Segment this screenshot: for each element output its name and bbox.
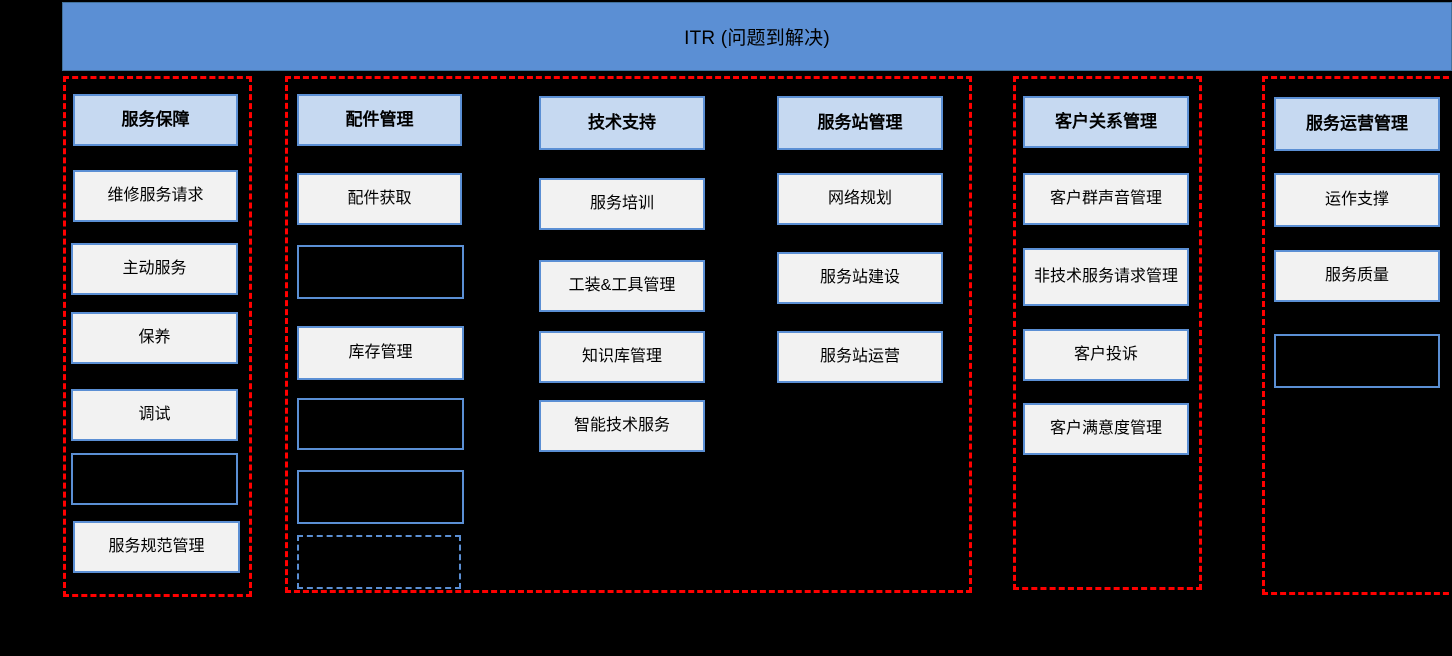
item-box-2-1[interactable]: 工装&工具管理 [539, 260, 705, 312]
column-header-label-5: 服务运营管理 [1306, 114, 1408, 134]
item-label-4-1: 非技术服务请求管理 [1034, 267, 1178, 286]
item-label-4-3: 客户满意度管理 [1050, 419, 1162, 438]
item-box-2-3[interactable]: 智能技术服务 [539, 400, 705, 452]
item-box-0-4[interactable] [71, 453, 238, 505]
item-label-0-2: 保养 [138, 328, 170, 347]
column-header-3[interactable]: 服务站管理 [777, 96, 943, 150]
item-box-1-3[interactable] [297, 398, 464, 450]
item-box-4-0[interactable]: 客户群声音管理 [1023, 173, 1189, 225]
item-label-5-1: 服务质量 [1325, 266, 1389, 285]
item-box-4-2[interactable]: 客户投诉 [1023, 329, 1189, 381]
item-label-1-0: 配件获取 [347, 189, 411, 208]
itr-banner: ITR (问题到解决) [62, 2, 1452, 71]
item-label-0-5: 服务规范管理 [108, 537, 204, 556]
column-header-0[interactable]: 服务保障 [73, 94, 238, 146]
item-box-4-3[interactable]: 客户满意度管理 [1023, 403, 1189, 455]
item-box-1-2[interactable]: 库存管理 [297, 326, 464, 380]
item-box-0-5[interactable]: 服务规范管理 [73, 521, 240, 573]
item-label-2-3: 智能技术服务 [574, 416, 670, 435]
item-box-5-0[interactable]: 运作支撑 [1274, 173, 1440, 227]
column-header-label-2: 技术支持 [588, 113, 656, 133]
item-box-2-0[interactable]: 服务培训 [539, 178, 705, 230]
item-box-3-0[interactable]: 网络规划 [777, 173, 943, 225]
item-box-3-1[interactable]: 服务站建设 [777, 252, 943, 304]
item-label-4-0: 客户群声音管理 [1050, 189, 1162, 208]
item-label-4-2: 客户投诉 [1074, 345, 1138, 364]
item-label-3-2: 服务站运营 [820, 347, 900, 366]
banner-title: ITR (问题到解决) [684, 23, 830, 50]
item-label-5-0: 运作支撑 [1325, 190, 1389, 209]
item-box-1-4[interactable] [297, 470, 464, 524]
column-header-label-1: 配件管理 [346, 110, 414, 130]
item-box-2-2[interactable]: 知识库管理 [539, 331, 705, 383]
item-box-1-0[interactable]: 配件获取 [297, 173, 462, 225]
item-label-0-0: 维修服务请求 [107, 186, 203, 205]
item-label-1-2: 库存管理 [348, 343, 412, 362]
column-header-label-0: 服务保障 [122, 110, 190, 130]
item-box-5-1[interactable]: 服务质量 [1274, 250, 1440, 302]
item-label-2-2: 知识库管理 [582, 347, 662, 366]
column-header-5[interactable]: 服务运营管理 [1274, 97, 1440, 151]
item-label-3-0: 网络规划 [828, 189, 892, 208]
item-label-0-3: 调试 [138, 405, 170, 424]
column-header-1[interactable]: 配件管理 [297, 94, 462, 146]
item-box-1-5[interactable] [297, 535, 461, 589]
diagram-canvas: ITR (问题到解决) 服务保障 维修服务请求 主动服务 保养 调试 服务规范管… [0, 0, 1452, 656]
item-label-2-1: 工装&工具管理 [569, 276, 676, 295]
column-header-2[interactable]: 技术支持 [539, 96, 705, 150]
item-label-2-0: 服务培训 [590, 194, 654, 213]
item-label-0-1: 主动服务 [122, 259, 186, 278]
item-box-0-0[interactable]: 维修服务请求 [73, 170, 238, 222]
column-header-4[interactable]: 客户关系管理 [1023, 96, 1189, 148]
item-box-3-2[interactable]: 服务站运营 [777, 331, 943, 383]
column-header-label-3: 服务站管理 [818, 113, 903, 133]
item-box-0-1[interactable]: 主动服务 [71, 243, 238, 295]
item-box-5-2[interactable] [1274, 334, 1440, 388]
item-label-3-1: 服务站建设 [820, 268, 900, 287]
column-header-label-4: 客户关系管理 [1055, 112, 1157, 132]
item-box-0-2[interactable]: 保养 [71, 312, 238, 364]
item-box-1-1[interactable] [297, 245, 464, 299]
item-box-0-3[interactable]: 调试 [71, 389, 238, 441]
item-box-4-1[interactable]: 非技术服务请求管理 [1023, 248, 1189, 306]
